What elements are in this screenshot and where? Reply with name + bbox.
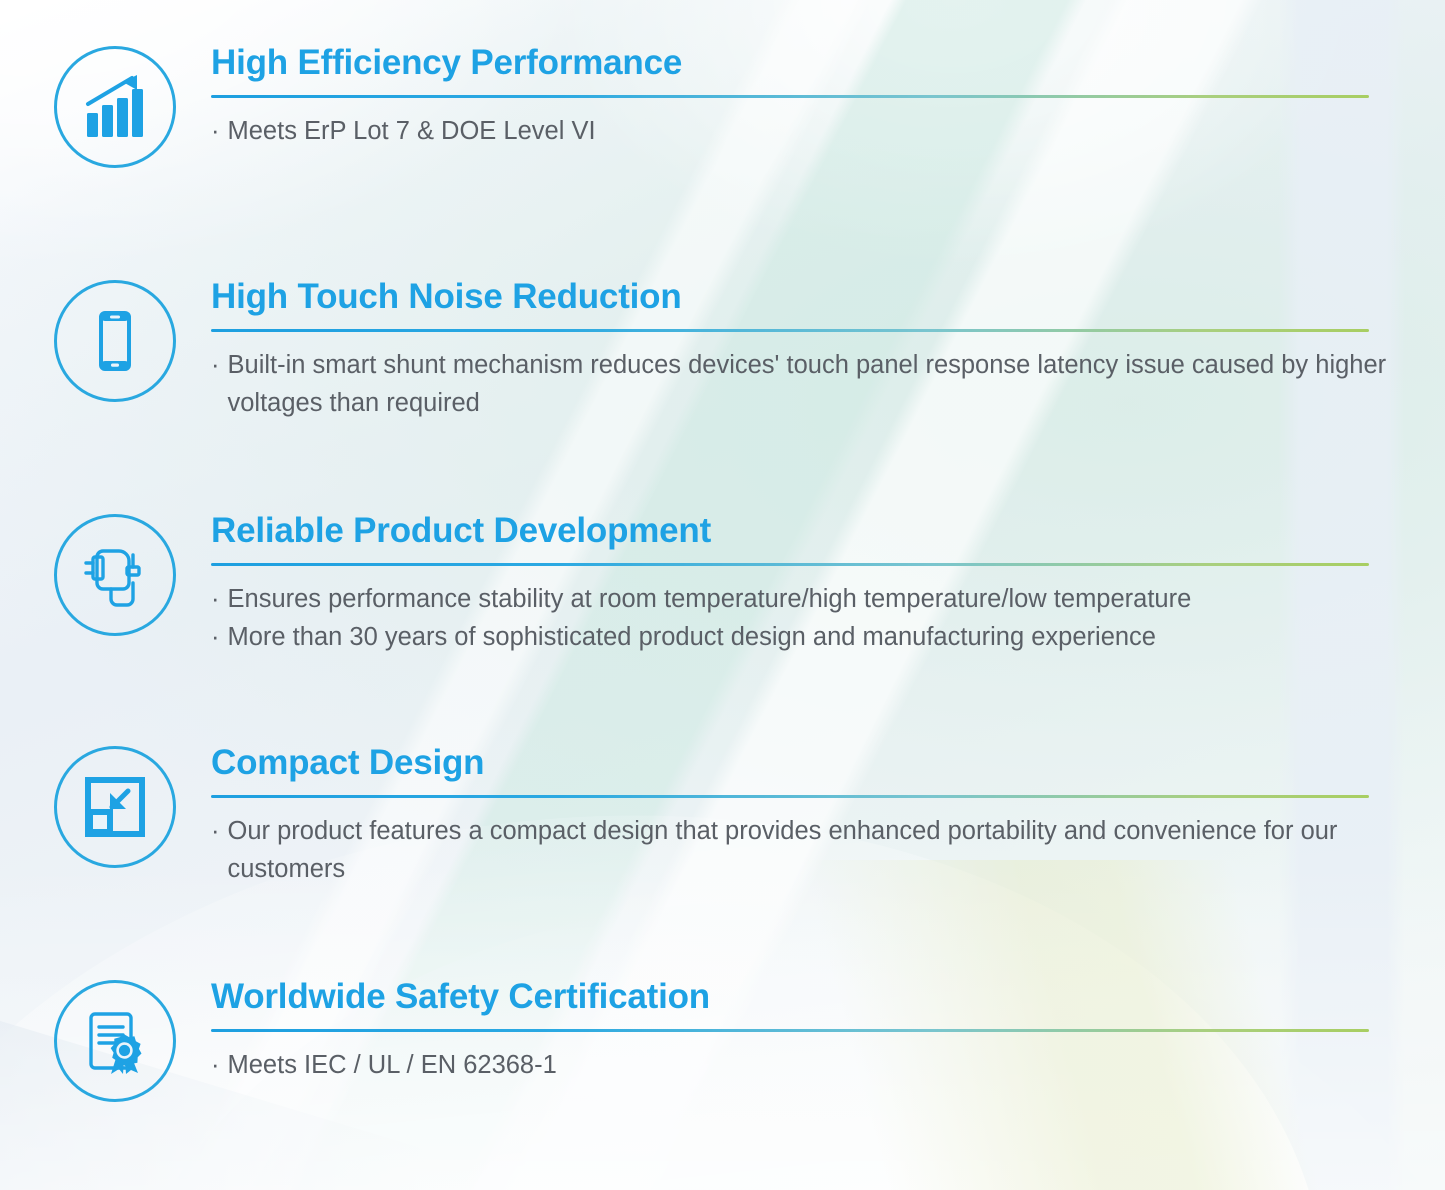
feature-divider [211, 95, 1369, 98]
feature-bullets: · Our product features a compact design … [211, 812, 1419, 889]
certificate-award-icon [54, 980, 176, 1102]
feature-body: Worldwide Safety Certification · Meets I… [211, 978, 1419, 1084]
bullet-text: Ensures performance stability at room te… [228, 580, 1420, 618]
feature-divider [211, 795, 1369, 798]
feature-bullets: · Meets IEC / UL / EN 62368-1 [211, 1046, 1419, 1084]
bullet-item: · Meets IEC / UL / EN 62368-1 [211, 1046, 1419, 1084]
feature-body: Compact Design · Our product features a … [211, 744, 1419, 888]
bullet-text: More than 30 years of sophisticated prod… [228, 618, 1420, 656]
bullet-item: · More than 30 years of sophisticated pr… [211, 618, 1419, 656]
feature-title: High Touch Noise Reduction [211, 278, 1419, 316]
bullet-marker: · [211, 112, 220, 150]
feature-item-high-efficiency-performance: High Efficiency Performance · Meets ErP … [52, 44, 1419, 168]
feature-title: Reliable Product Development [211, 512, 1419, 550]
bullet-text: Our product features a compact design th… [228, 812, 1420, 889]
bullet-marker: · [211, 618, 220, 656]
feature-icon-wrap [52, 44, 178, 168]
smartphone-icon [54, 280, 176, 402]
feature-body: High Efficiency Performance · Meets ErP … [211, 44, 1419, 150]
feature-title: Compact Design [211, 744, 1419, 782]
feature-icon-wrap [52, 978, 178, 1102]
feature-bullets: · Built-in smart shunt mechanism reduces… [211, 346, 1419, 423]
feature-item-reliable-product-development: Reliable Product Development · Ensures p… [52, 512, 1419, 656]
bullet-marker: · [211, 812, 220, 850]
feature-item-worldwide-safety-certification: Worldwide Safety Certification · Meets I… [52, 978, 1419, 1102]
power-adapter-icon [54, 514, 176, 636]
bar-chart-growth-icon [54, 46, 176, 168]
feature-bullets: · Meets ErP Lot 7 & DOE Level VI [211, 112, 1419, 150]
bullet-marker: · [211, 346, 220, 384]
bullet-item: · Built-in smart shunt mechanism reduces… [211, 346, 1419, 423]
feature-bullets: · Ensures performance stability at room … [211, 580, 1419, 657]
bullet-text: Built-in smart shunt mechanism reduces d… [228, 346, 1420, 423]
feature-list-page: High Efficiency Performance · Meets ErP … [0, 0, 1445, 1190]
bullet-text: Meets IEC / UL / EN 62368-1 [228, 1046, 1420, 1084]
bullet-item: · Meets ErP Lot 7 & DOE Level VI [211, 112, 1419, 150]
bullet-item: · Ensures performance stability at room … [211, 580, 1419, 618]
feature-body: High Touch Noise Reduction · Built-in sm… [211, 278, 1419, 422]
features-container: High Efficiency Performance · Meets ErP … [0, 0, 1445, 1190]
feature-icon-wrap [52, 744, 178, 868]
feature-body: Reliable Product Development · Ensures p… [211, 512, 1419, 656]
bullet-item: · Our product features a compact design … [211, 812, 1419, 889]
feature-divider [211, 563, 1369, 566]
feature-title: Worldwide Safety Certification [211, 978, 1419, 1016]
feature-item-compact-design: Compact Design · Our product features a … [52, 744, 1419, 888]
feature-divider [211, 329, 1369, 332]
bullet-marker: · [211, 580, 220, 618]
feature-icon-wrap [52, 512, 178, 636]
feature-divider [211, 1029, 1369, 1032]
feature-icon-wrap [52, 278, 178, 402]
bullet-marker: · [211, 1046, 220, 1084]
feature-title: High Efficiency Performance [211, 44, 1419, 82]
resize-shrink-icon [54, 746, 176, 868]
feature-item-high-touch-noise-reduction: High Touch Noise Reduction · Built-in sm… [52, 278, 1419, 422]
bullet-text: Meets ErP Lot 7 & DOE Level VI [228, 112, 1420, 150]
